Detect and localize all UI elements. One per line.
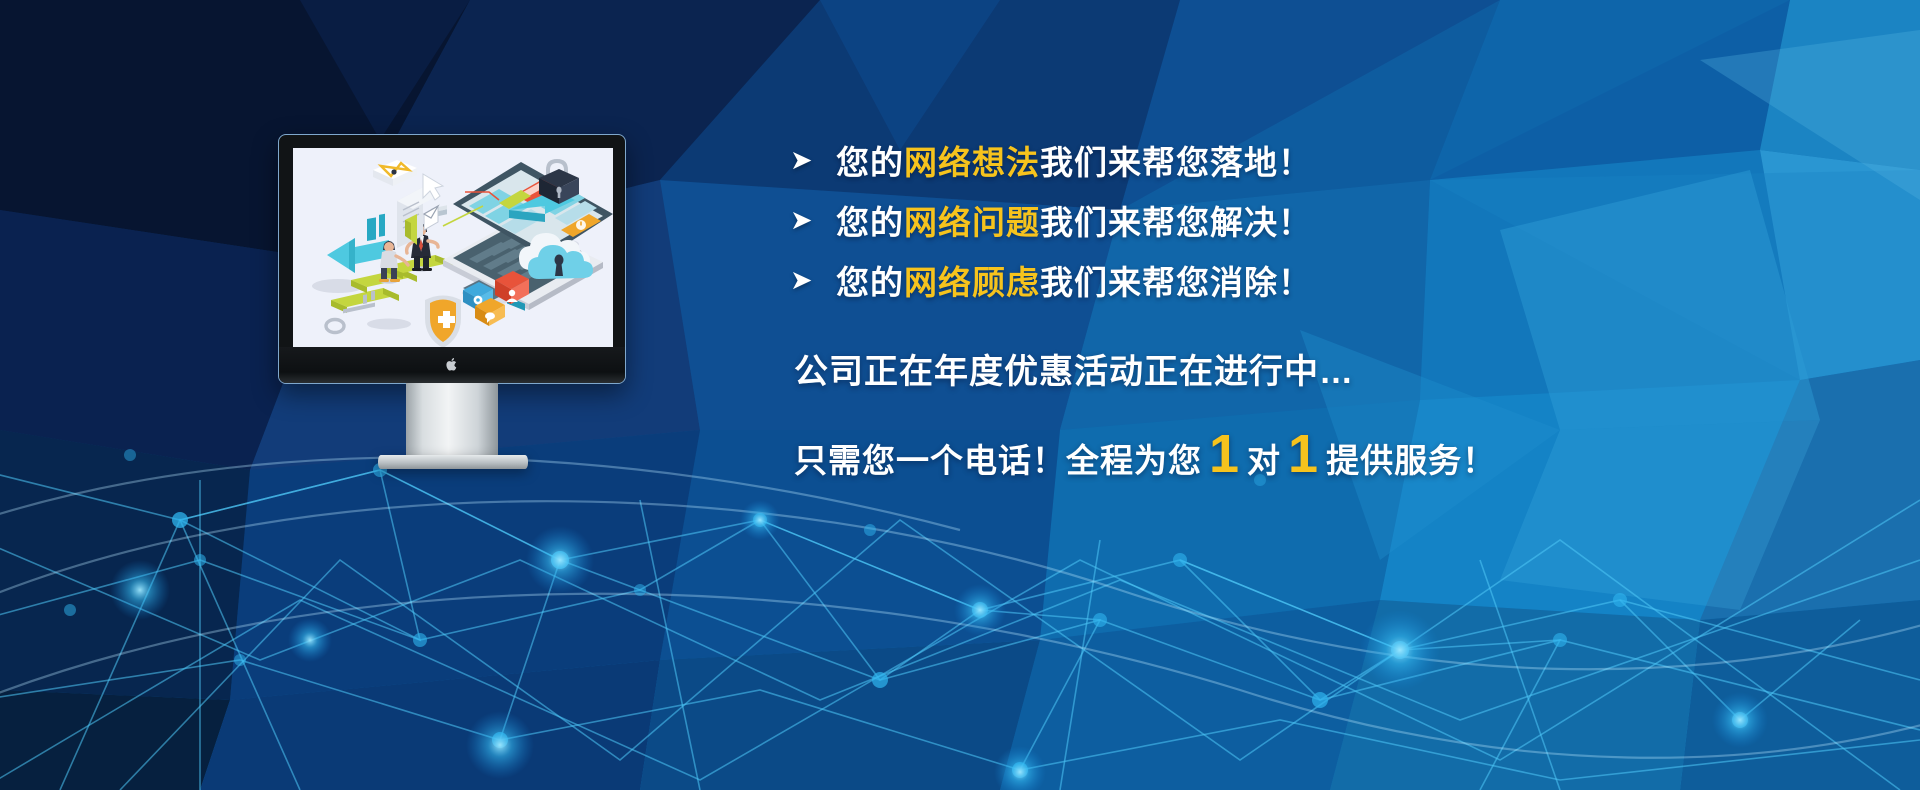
cta-tail: 提供服务！	[1326, 434, 1496, 482]
cta-number-first: 1	[1202, 427, 1247, 481]
monitor-stand-neck	[406, 383, 498, 462]
arrowhead-bullet-icon: ➤	[790, 207, 836, 234]
call-to-action-line: 只需您一个电话！全程为您 1 对 1 提供服务！	[794, 427, 1870, 482]
bullet-prefix-3: 您的	[836, 264, 904, 301]
monitor-chin	[279, 347, 625, 383]
bullet-line-2: ➤ 您的网络问题我们来帮您解决！	[790, 190, 1870, 250]
bullet-line-3: ➤ 您的网络顾虑我们来帮您消除！	[790, 250, 1870, 310]
monitor-screen	[293, 148, 613, 349]
bullet-prefix-1: 您的	[836, 144, 904, 181]
bullet-highlight-1: 网络想法	[904, 144, 1040, 181]
cta-lead: 只需您一个电话！全程为您	[794, 434, 1202, 482]
bullet-suffix-1: 我们来帮您落地！	[1040, 144, 1312, 181]
imac-monitor	[278, 134, 626, 384]
monitor-stand-base	[378, 455, 528, 469]
arrowhead-bullet-icon: ➤	[790, 147, 836, 174]
bullet-text-2: 您的网络问题我们来帮您解决！	[836, 196, 1312, 244]
bullet-line-1: ➤ 您的网络想法我们来帮您落地！	[790, 130, 1870, 190]
cta-middle: 对	[1247, 434, 1281, 482]
bullet-prefix-2: 您的	[836, 204, 904, 241]
promo-line: 公司正在年度优惠活动正在进行中…	[794, 344, 1870, 393]
copy-block: ➤ 您的网络想法我们来帮您落地！ ➤ 您的网络问题我们来帮您解决！ ➤ 您的网络…	[790, 130, 1870, 482]
bullet-suffix-3: 我们来帮您消除！	[1040, 264, 1312, 301]
promo-banner: ➤ 您的网络想法我们来帮您落地！ ➤ 您的网络问题我们来帮您解决！ ➤ 您的网络…	[0, 0, 1920, 790]
bullet-text-1: 您的网络想法我们来帮您落地！	[836, 136, 1312, 184]
bullet-highlight-2: 网络问题	[904, 204, 1040, 241]
bullet-highlight-3: 网络顾虑	[904, 264, 1040, 301]
arrowhead-bullet-icon: ➤	[790, 267, 836, 294]
bullet-text-3: 您的网络顾虑我们来帮您消除！	[836, 256, 1312, 304]
isometric-scene	[293, 148, 613, 349]
apple-icon	[446, 357, 459, 372]
bullet-suffix-2: 我们来帮您解决！	[1040, 204, 1312, 241]
cta-number-second: 1	[1281, 427, 1326, 481]
